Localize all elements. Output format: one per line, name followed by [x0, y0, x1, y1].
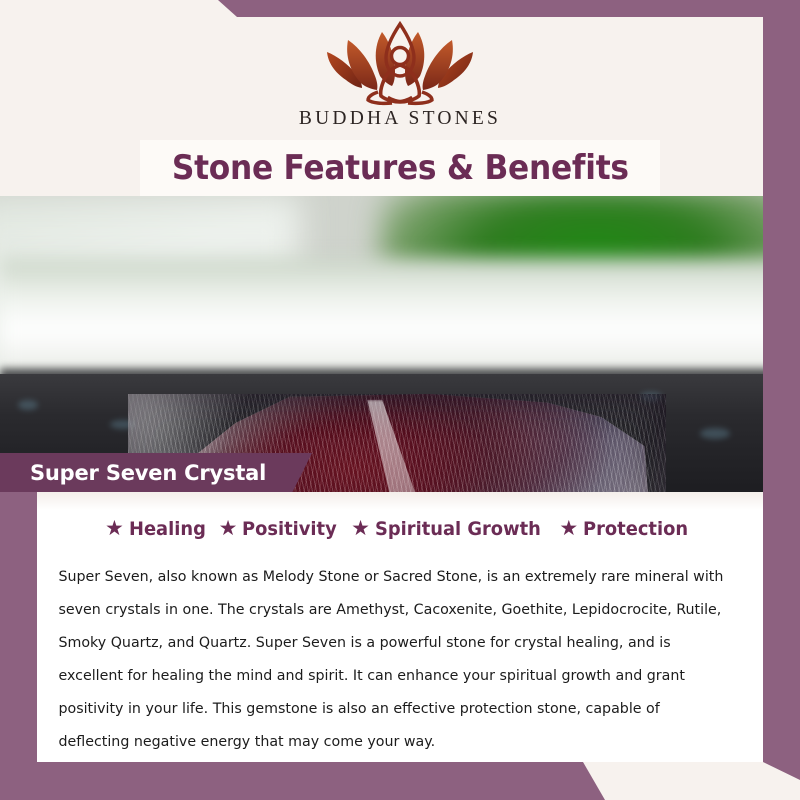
product-photo: [0, 196, 800, 492]
brand-logo: BUDDHA STONES: [0, 18, 800, 138]
star-icon: ★: [105, 518, 124, 539]
brand-wordmark: BUDDHA STONES: [299, 108, 501, 130]
benefit-item-positivity: ★ Positivity: [219, 518, 344, 540]
title-banner: Stone Features & Benefits: [140, 140, 660, 196]
lotus-meditation-icon: [310, 18, 490, 106]
frame-bottom-bar: [0, 762, 800, 800]
frame-top-bar: [0, 0, 800, 17]
page-title: Stone Features & Benefits: [172, 148, 629, 188]
content-card: ★ Healing ★ Positivity ★ Spiritual Growt…: [37, 492, 763, 762]
star-icon: ★: [219, 518, 238, 539]
benefit-item-spiritual-growth: ★ Spiritual Growth: [351, 518, 551, 540]
benefit-label: Healing: [129, 518, 206, 540]
photo-speck: [700, 428, 730, 439]
photo-caption-banner: Super Seven Crystal: [0, 453, 312, 493]
content-top-fade: [37, 492, 763, 510]
description-paragraph: Super Seven, also known as Melody Stone …: [37, 560, 745, 758]
photo-speck: [18, 400, 38, 410]
star-icon: ★: [559, 518, 578, 539]
frame-right-bar: [763, 0, 800, 800]
benefit-item-protection: ★ Protection: [559, 518, 695, 540]
benefits-row: ★ Healing ★ Positivity ★ Spiritual Growt…: [37, 518, 763, 540]
star-icon: ★: [351, 518, 370, 539]
frame-left-bar: [0, 492, 37, 800]
benefit-label: Spiritual Growth: [375, 518, 541, 540]
poster-root: BUDDHA STONES Stone Features & Benefits …: [0, 0, 800, 800]
benefit-label: Positivity: [242, 518, 337, 540]
description-block: Super Seven, also known as Melody Stone …: [37, 560, 763, 758]
photo-caption-label: Super Seven Crystal: [30, 461, 266, 485]
benefit-item-healing: ★ Healing: [105, 518, 211, 540]
benefit-label: Protection: [583, 518, 688, 540]
